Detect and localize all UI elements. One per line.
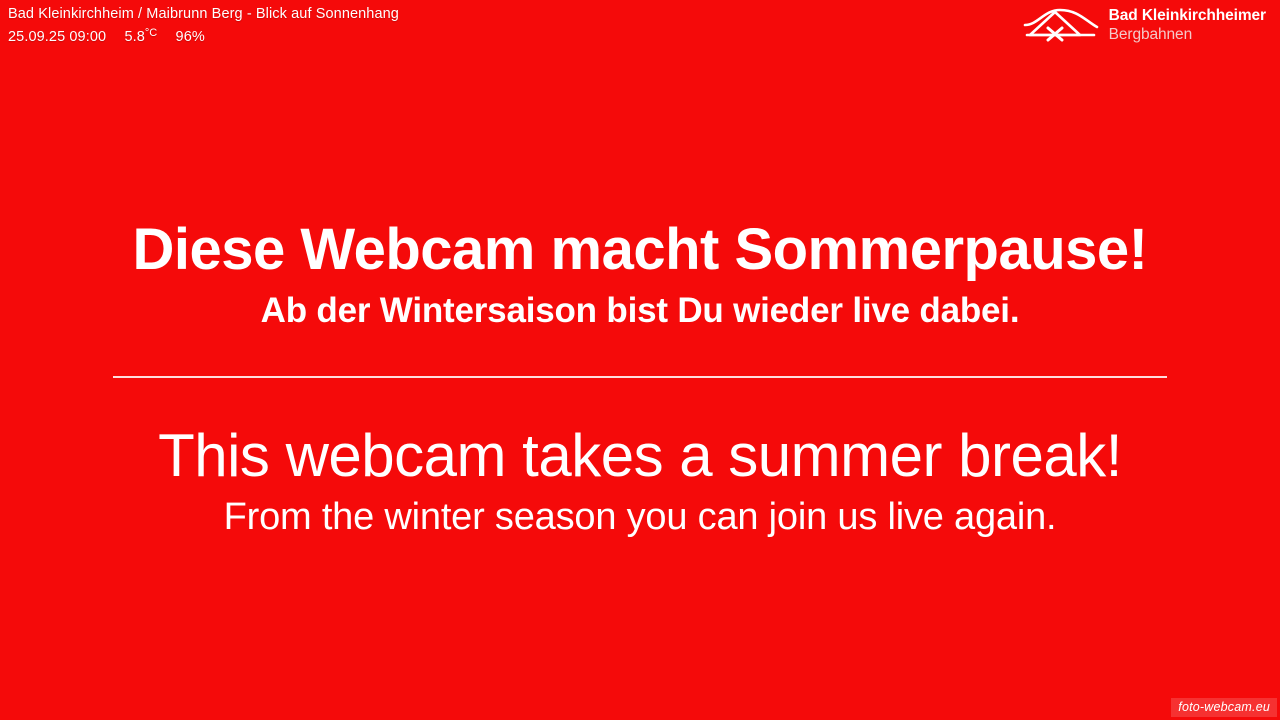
brand-name-secondary: Bergbahnen bbox=[1109, 26, 1266, 43]
english-headline: This webcam takes a summer break! bbox=[113, 424, 1167, 487]
temperature-value: 5.8 bbox=[124, 29, 144, 45]
capture-timestamp: 25.09.25 09:00 bbox=[8, 29, 106, 45]
german-headline: Diese Webcam macht Sommerpause! bbox=[113, 220, 1167, 281]
message-english: This webcam takes a summer break! From t… bbox=[113, 424, 1167, 538]
camera-location-title: Bad Kleinkirchheim / Maibrunn Berg - Bli… bbox=[8, 5, 399, 25]
message-german: Diese Webcam macht Sommerpause! Ab der W… bbox=[113, 220, 1167, 330]
humidity-value: 96% bbox=[176, 29, 205, 45]
offline-message: Diese Webcam macht Sommerpause! Ab der W… bbox=[0, 0, 1280, 720]
english-subline: From the winter season you can join us l… bbox=[113, 497, 1167, 538]
mountain-cablecar-logo-icon bbox=[1022, 7, 1100, 43]
temperature-unit: °C bbox=[145, 27, 157, 39]
camera-measurements: 25.09.25 09:00 5.8°C 96% bbox=[8, 26, 399, 48]
brand-name-primary: Bad Kleinkirchheimer bbox=[1109, 7, 1266, 24]
camera-info-overlay: Bad Kleinkirchheim / Maibrunn Berg - Bli… bbox=[8, 5, 399, 47]
german-subline: Ab der Wintersaison bist Du wieder live … bbox=[113, 292, 1167, 330]
webcam-offline-screen: Bad Kleinkirchheim / Maibrunn Berg - Bli… bbox=[0, 0, 1280, 720]
brand-wordmark: Bad Kleinkirchheimer Bergbahnen bbox=[1109, 7, 1266, 43]
message-divider bbox=[113, 376, 1167, 378]
offline-message-inner: Diese Webcam macht Sommerpause! Ab der W… bbox=[113, 220, 1167, 539]
provider-watermark[interactable]: foto-webcam.eu bbox=[1171, 698, 1277, 717]
brand-logo[interactable]: Bad Kleinkirchheimer Bergbahnen bbox=[1022, 7, 1266, 43]
